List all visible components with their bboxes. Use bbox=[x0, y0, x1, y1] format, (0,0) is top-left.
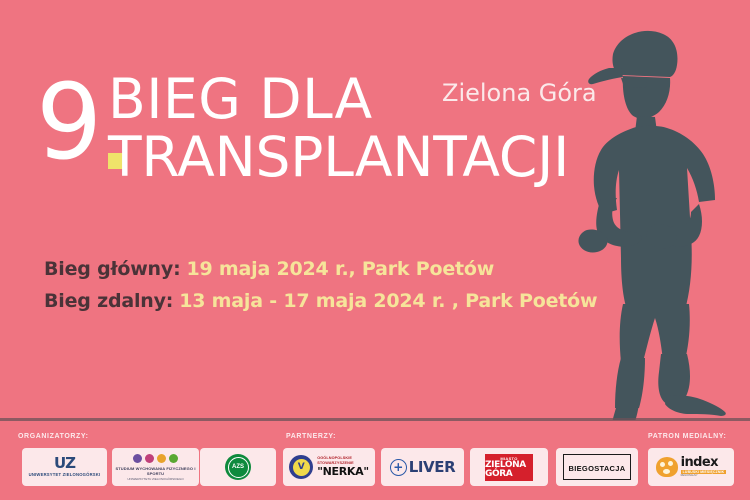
swfis-dots-icon bbox=[112, 454, 199, 463]
uz-logo-name: UNIWERSYTET ZIELONOGÓRSKI bbox=[29, 473, 101, 477]
index-logo-name: index bbox=[681, 456, 727, 469]
logo-biegostacja[interactable]: BIEGOSTACJA bbox=[556, 448, 638, 486]
plus-circle-icon: + bbox=[390, 459, 407, 476]
date-row-remote: Bieg zdalny:13 maja - 17 maja 2024 r. , … bbox=[44, 290, 597, 312]
event-dates-block: Bieg główny:19 maja 2024 r., Park Poetów… bbox=[44, 258, 597, 322]
date-label-remote: Bieg zdalny: bbox=[44, 290, 173, 312]
race-poster: 9 BIEG DLA TRANSPLANTACJI Zielona Góra B… bbox=[0, 0, 750, 500]
media-patron-heading: PATRON MEDIALNY: bbox=[648, 433, 726, 440]
date-row-main: Bieg główny:19 maja 2024 r., Park Poetów bbox=[44, 258, 597, 280]
logo-studium-wychowania-fizycznego[interactable]: STUDIUM WYCHOWANIA FIZYCZNEGO I SPORTU U… bbox=[112, 448, 199, 486]
azs-emblem-mark: AZS bbox=[228, 457, 249, 478]
index-logo-inner: index LUBUSKI MIESIĘCZNIK REGIONALNY bbox=[656, 456, 727, 478]
sponsor-bar: ORGANIZATORZY: PARTNERZY: PATRON MEDIALN… bbox=[0, 421, 750, 500]
logo-index-media-patron[interactable]: index LUBUSKI MIESIĘCZNIK REGIONALNY bbox=[648, 448, 734, 486]
city-label: Zielona Góra bbox=[442, 79, 597, 107]
uz-mark-icon: UZ bbox=[29, 456, 101, 471]
partners-heading: PARTNERZY: bbox=[286, 433, 336, 440]
edition-number: 9 bbox=[36, 70, 100, 174]
organizers-heading: ORGANIZATORZY: bbox=[18, 433, 89, 440]
liver-logo-name: LIVER bbox=[409, 458, 456, 476]
azs-emblem-icon: AZS bbox=[225, 454, 251, 480]
swfis-logo-inner: STUDIUM WYCHOWANIA FIZYCZNEGO I SPORTU U… bbox=[112, 454, 199, 481]
swfis-logo-name: STUDIUM WYCHOWANIA FIZYCZNEGO I SPORTU bbox=[112, 466, 199, 476]
logo-miasto-zielona-gora[interactable]: MIASTO ZIELONA GÓRA bbox=[470, 448, 548, 486]
logo-azs[interactable]: AZS bbox=[200, 448, 276, 486]
index-text-block: index LUBUSKI MIESIĘCZNIK REGIONALNY bbox=[681, 456, 727, 478]
index-face-icon bbox=[656, 457, 678, 477]
date-value-remote: 13 maja - 17 maja 2024 r. , Park Poetów bbox=[179, 290, 597, 312]
nerka-badge-icon: V bbox=[289, 455, 313, 479]
biegostacja-logo-name: BIEGOSTACJA bbox=[569, 464, 626, 473]
logo-uniwersytet-zielonogorski[interactable]: UZ UNIWERSYTET ZIELONOGÓRSKI bbox=[22, 448, 107, 486]
logo-stowarzyszenie-nerka[interactable]: V OGÓLNOPOLSKIE STOWARZYSZENIE "NERKA" bbox=[283, 448, 375, 486]
nerka-logo-inner: V OGÓLNOPOLSKIE STOWARZYSZENIE "NERKA" bbox=[285, 455, 373, 479]
logo-liver[interactable]: + LIVER bbox=[381, 448, 464, 486]
uz-logo-inner: UZ UNIWERSYTET ZIELONOGÓRSKI bbox=[29, 456, 101, 477]
zielona-gora-logo-inner: MIASTO ZIELONA GÓRA bbox=[485, 454, 533, 481]
event-title-line-2: TRANSPLANTACJI bbox=[108, 130, 638, 184]
biegostacja-logo-inner: BIEGOSTACJA bbox=[563, 454, 632, 480]
date-label-main: Bieg główny: bbox=[44, 258, 180, 280]
nerka-text-block: OGÓLNOPOLSKIE STOWARZYSZENIE "NERKA" bbox=[317, 456, 369, 478]
swfis-logo-sub: UNIWERSYTETU ZIELONOGÓRSKIEGO bbox=[112, 477, 199, 481]
nerka-logo-name: "NERKA" bbox=[317, 466, 369, 478]
date-value-main: 19 maja 2024 r., Park Poetów bbox=[186, 258, 494, 280]
zielona-gora-logo-name: ZIELONA GÓRA bbox=[485, 461, 533, 479]
liver-logo-inner: + LIVER bbox=[390, 458, 456, 476]
nerka-badge-mark: V bbox=[293, 459, 310, 476]
index-logo-sub: REGIONALNY bbox=[681, 475, 727, 478]
